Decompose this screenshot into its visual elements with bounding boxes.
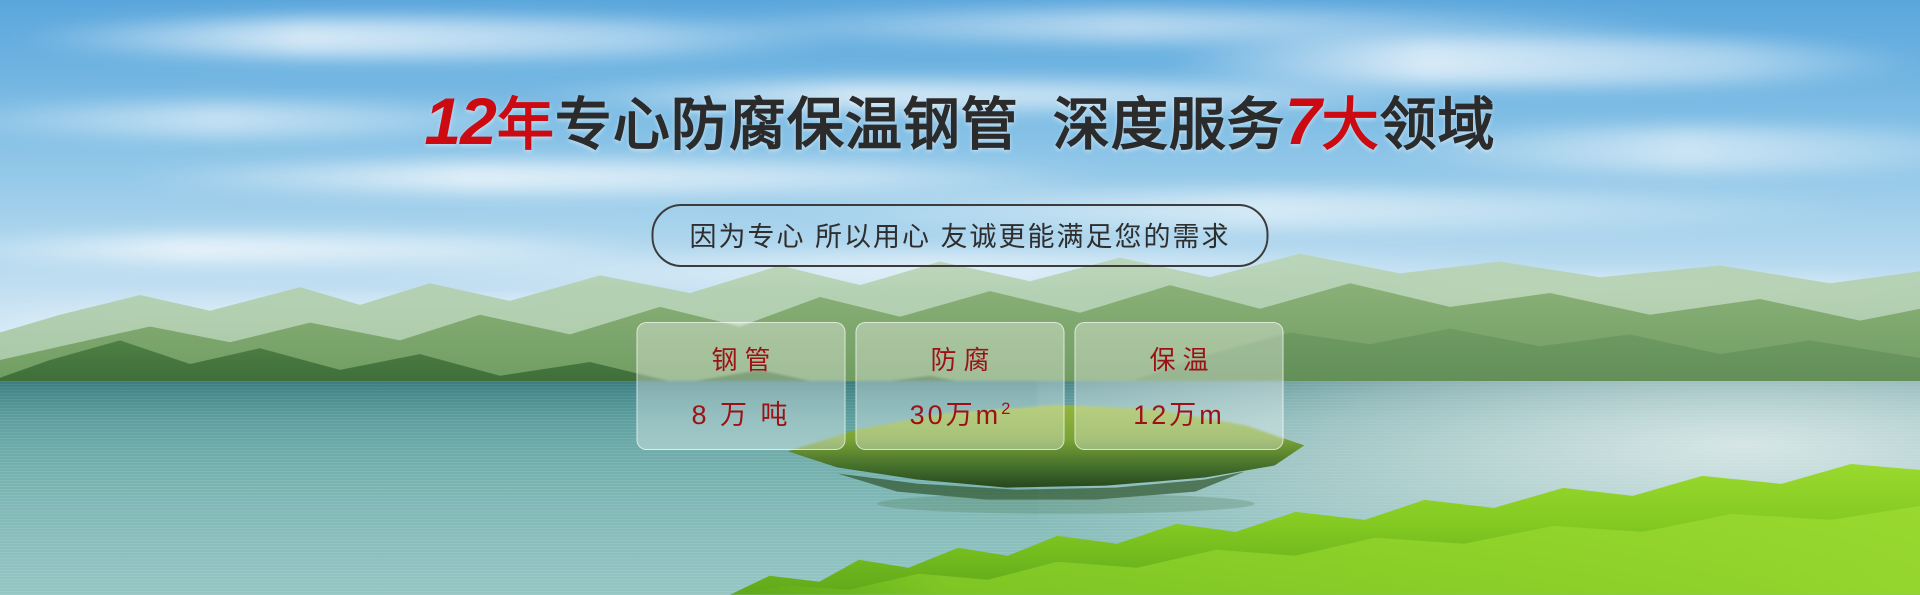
stat-label: 钢管 [704, 340, 777, 377]
banner-content: 12年专心防腐保温钢管深度服务7大领域 因为专心 所以用心 友诚更能满足您的需求… [0, 0, 1920, 595]
subtitle-pill: 因为专心 所以用心 友诚更能满足您的需求 [651, 204, 1268, 267]
headline-middle: 专心防腐保温钢管 [555, 93, 1019, 157]
stat-card-anticorrosion: 防腐 30万m2 [856, 322, 1065, 450]
headline-fields-number: 7 [1285, 84, 1321, 158]
stat-card-steel-pipe: 钢管 8 万 吨 [637, 322, 846, 450]
stat-value-main: 8 万 吨 [691, 400, 790, 430]
headline-years-unit: 年 [497, 93, 555, 157]
headline-years-number: 12 [424, 84, 495, 158]
stat-value-superscript: 2 [1001, 399, 1010, 418]
hero-banner: 12年专心防腐保温钢管深度服务7大领域 因为专心 所以用心 友诚更能满足您的需求… [0, 0, 1920, 595]
stat-value: 30万m2 [910, 393, 1011, 432]
stat-card-list: 钢管 8 万 吨 防腐 30万m2 保温 12万m [637, 322, 1284, 450]
stat-card-insulation: 保温 12万m [1075, 322, 1284, 450]
headline-second-lead: 深度服务 [1053, 93, 1285, 157]
stat-label: 防腐 [923, 340, 996, 377]
stat-value-main: 30万m [910, 400, 1002, 430]
stat-value: 12万m [1133, 393, 1225, 432]
subtitle-text: 因为专心 所以用心 友诚更能满足您的需求 [689, 222, 1230, 252]
headline-tail: 领域 [1380, 93, 1496, 157]
headline-fields-unit: 大 [1322, 93, 1380, 157]
stat-label: 保温 [1142, 340, 1215, 377]
stat-value: 8 万 吨 [691, 393, 790, 432]
stat-value-main: 12万m [1133, 400, 1225, 430]
headline: 12年专心防腐保温钢管深度服务7大领域 [0, 88, 1920, 154]
